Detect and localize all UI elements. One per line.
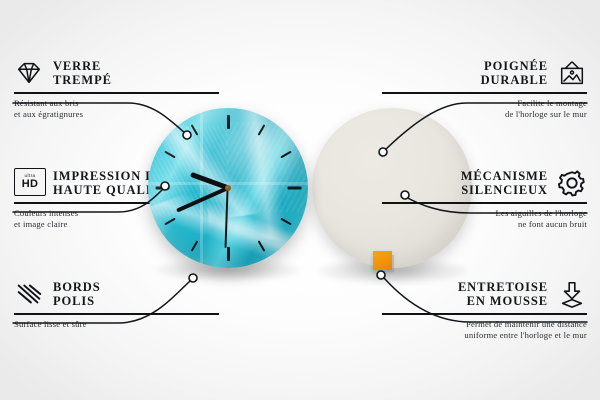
feature-poignee-durable[interactable]: POIGNÉE DURABLE Facilite le montage de l… [382,58,587,120]
infographic-canvas: VERRE TREMPÉ Résistant aux bris et aux é… [0,0,600,400]
wall-hanger-icon [557,58,587,88]
clock-hand-hour [190,172,229,190]
foam-spacer-sample [373,251,392,270]
ultra-hd-icon: ultra HD [14,168,44,198]
feature-title: BORDS POLIS [53,280,101,308]
feature-title: VERRE TREMPÉ [53,59,112,87]
feature-title: MÉCANISME SILENCIEUX [461,169,548,197]
feature-entretoise-en-mousse[interactable]: ENTRETOISE EN MOUSSE Permet de maintenir… [382,279,587,341]
diamond-icon [14,58,44,88]
feature-subtitle: Facilite le montage de l'horloge sur le … [382,94,587,120]
clock-center-hub [225,185,231,191]
feature-title: POIGNÉE DURABLE [481,59,548,87]
polished-edges-icon [14,279,44,309]
feature-title: ENTRETOISE EN MOUSSE [458,280,548,308]
feature-subtitle: Surface lisse et sûre [14,315,219,330]
clock-hand-minute [176,186,229,212]
clock-front-view [148,108,308,268]
foam-spacer-icon [557,279,587,309]
feature-subtitle: Permet de maintenir une distance uniform… [382,315,587,341]
feature-bords-polis[interactable]: BORDS POLIS Surface lisse et sûre [14,279,219,330]
feature-subtitle: Les aiguilles de l'horloge ne font aucun… [382,204,587,230]
clock-hand-second [225,188,229,248]
feature-mecanisme-silencieux[interactable]: MÉCANISME SILENCIEUX Les aiguilles de l'… [382,168,587,230]
gear-icon [557,168,587,198]
ultra-hd-large-text: HD [22,179,39,190]
clock-tick-marks [148,108,308,268]
